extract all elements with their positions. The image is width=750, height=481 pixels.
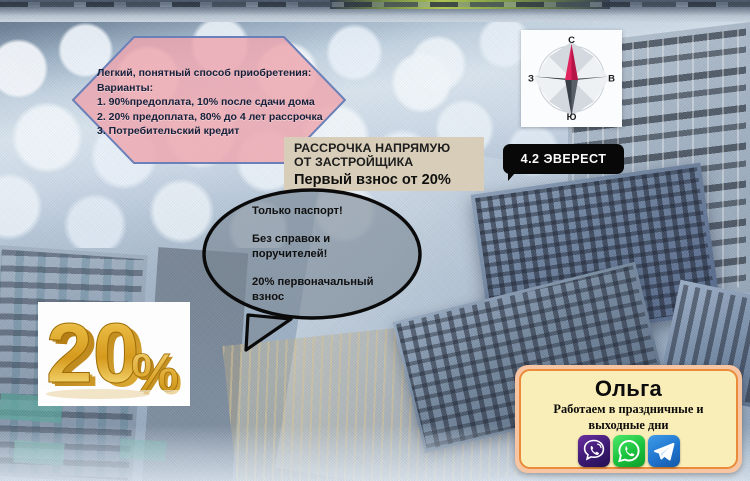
contact-card: Ольга Работаем в праздничные и выходные … <box>515 365 742 473</box>
whatsapp-icon[interactable] <box>613 435 645 467</box>
telegram-icon[interactable] <box>648 435 680 467</box>
installment-banner-line-2: ОТ ЗАСТРОЙЩИКА <box>294 155 484 169</box>
contact-card-inner: Ольга Работаем в праздничные и выходные … <box>519 369 738 469</box>
contact-note-line-2: выходные дни <box>529 417 729 433</box>
svg-text:20: 20 <box>46 306 139 400</box>
bubble-para-3: 20% первоначальный взнос <box>252 275 422 305</box>
bubble-para-2: Без справок и поручителей! <box>252 232 422 262</box>
contact-note-line-1: Работаем в праздничные и <box>529 401 729 417</box>
viber-glyph <box>578 435 610 467</box>
discount-badge-20-percent: 20 20 20 % % <box>38 302 190 406</box>
installment-banner-line-1: РАССРОЧКА НАПРЯМУЮ <box>294 141 484 155</box>
bubble-line-b1: Без справок и <box>252 233 330 245</box>
compass-label-east: В <box>608 73 615 84</box>
viber-icon[interactable] <box>578 435 610 467</box>
bubble-line-a: Только паспорт! <box>252 205 343 217</box>
messenger-icons <box>578 435 680 467</box>
hex-line-2: Варианты: <box>97 81 328 96</box>
compass-rose: С Ю З В <box>521 30 622 127</box>
compass-label-south: Ю <box>567 112 577 123</box>
compass-label-north: С <box>568 35 575 46</box>
installment-banner: РАССРОЧКА НАПРЯМУЮ ОТ ЗАСТРОЙЩИКА Первый… <box>284 137 484 191</box>
conditions-speech-bubble: Только паспорт! Без справок и поручителе… <box>196 186 428 352</box>
bubble-line-c2: взнос <box>252 291 284 303</box>
gold-20-percent-graphic: 20 20 20 % % <box>38 302 190 406</box>
hex-line-1: Легкий, понятный способ приобретения: <box>97 66 328 81</box>
advertisement-image: Легкий, понятный способ приобретения: Ва… <box>0 0 750 481</box>
contact-name: Ольга <box>595 376 662 401</box>
bubble-line-c1: 20% первоначальный <box>252 276 373 288</box>
map-pin-label[interactable]: 4.2 ЭВЕРЕСТ <box>503 144 624 174</box>
bubble-para-1: Только паспорт! <box>252 204 422 219</box>
map-pin-label-text: 4.2 ЭВЕРЕСТ <box>521 152 607 166</box>
telegram-glyph <box>648 435 680 467</box>
whatsapp-glyph <box>613 435 645 467</box>
purchase-options-text: Легкий, понятный способ приобретения: Ва… <box>97 66 328 139</box>
conditions-text: Только паспорт! Без справок и поручителе… <box>252 204 422 305</box>
bubble-line-b2: поручителей! <box>252 248 327 260</box>
hex-line-3: 1. 90%предоплата, 10% после сдачи дома <box>97 95 328 110</box>
hex-line-4: 2. 20% предоплата, 80% до 4 лет рассрочк… <box>97 110 328 125</box>
compass-label-west: З <box>528 73 534 84</box>
